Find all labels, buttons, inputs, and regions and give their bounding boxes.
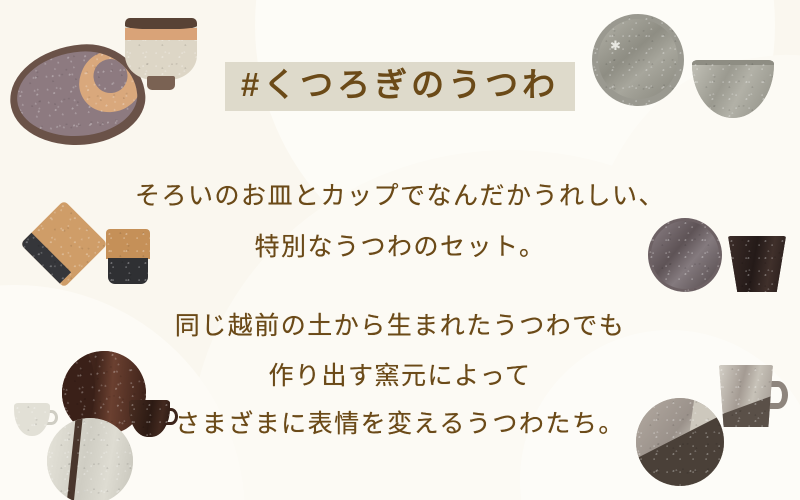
- pottery-banner: ✱: [0, 0, 800, 500]
- banner-title-text: #くつろぎのうつわ: [225, 62, 575, 111]
- banner-line-1: そろいのお皿とカップでなんだかうれしい、: [0, 176, 800, 212]
- text-block: #くつろぎのうつわ そろいのお皿とカップでなんだかうれしい、 特別なうつわのセッ…: [0, 0, 800, 500]
- banner-line-4: 作り出す窯元によって: [0, 356, 800, 392]
- banner-line-3: 同じ越前の土から生まれたうつわでも: [0, 306, 800, 342]
- banner-title: #くつろぎのうつわ: [0, 62, 800, 111]
- banner-line-2: 特別なうつわのセット。: [0, 227, 800, 263]
- banner-line-5: さまざまに表情を変えるうつわたち。: [0, 404, 800, 440]
